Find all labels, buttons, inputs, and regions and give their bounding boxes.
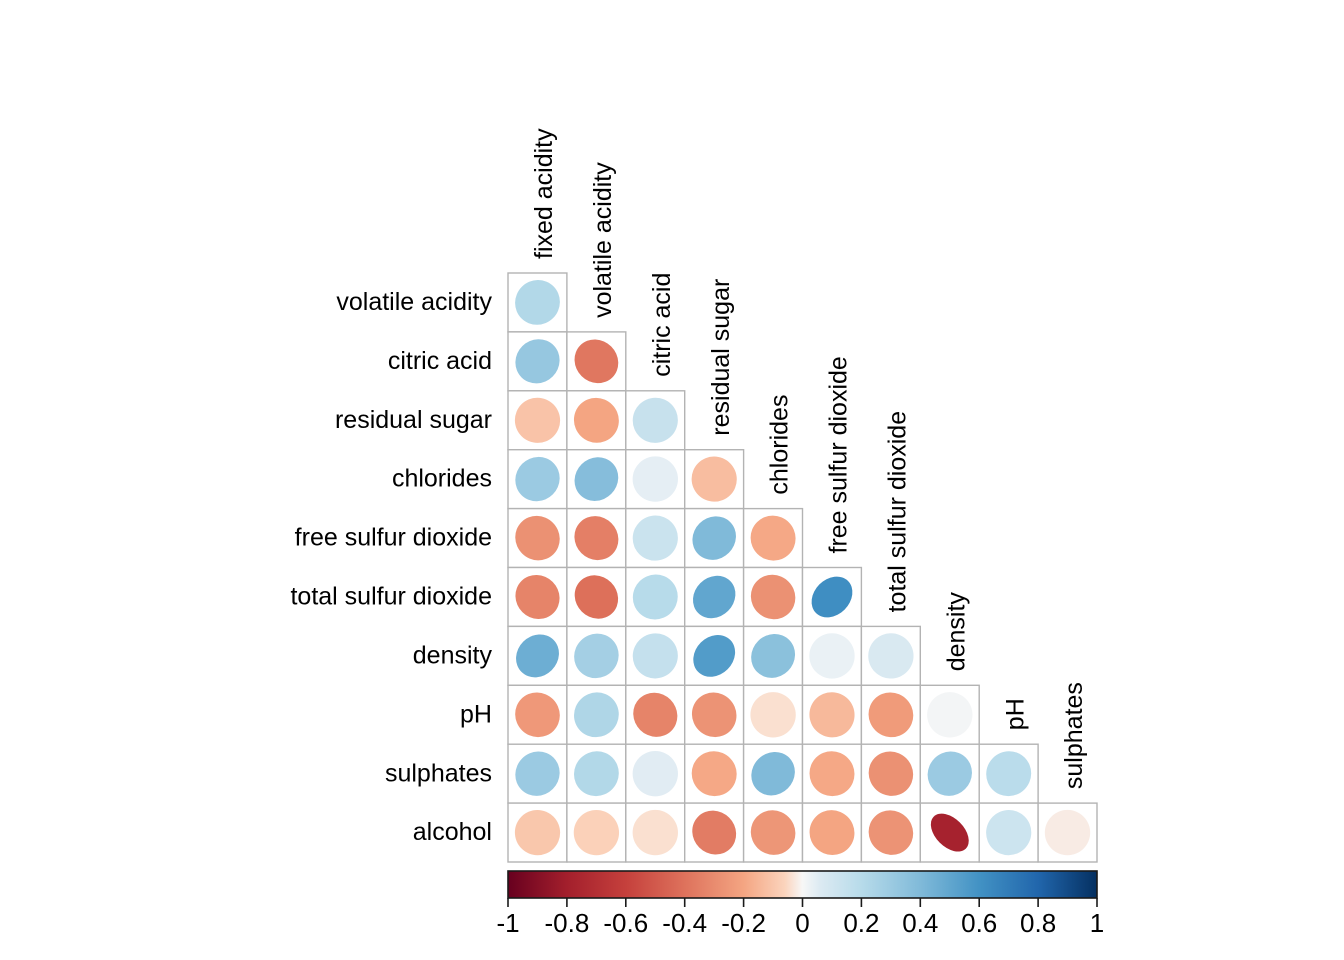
colorbar-tick-label: 0.8 — [1020, 908, 1056, 938]
column-label: volatile acidity — [589, 162, 617, 318]
correlation-matrix-figure: volatile aciditycitric acidresidual suga… — [0, 0, 1344, 960]
colorbar-tick-labels: -1-0.8-0.6-0.4-0.200.20.40.60.81 — [496, 908, 1104, 938]
colorbar-tick-label: 0 — [795, 908, 809, 938]
colorbar-tick-label: 1 — [1090, 908, 1104, 938]
colorbar-tick-label: -0.4 — [662, 908, 707, 938]
column-label: chlorides — [766, 395, 794, 495]
colorbar-tick-label: 0.6 — [961, 908, 997, 938]
row-label: citric acid — [388, 347, 492, 375]
row-label: residual sugar — [335, 406, 492, 434]
row-label: chlorides — [392, 465, 492, 493]
column-label: density — [942, 592, 970, 672]
colorbar-tick-label: 0.2 — [843, 908, 879, 938]
column-label: free sulfur dioxide — [825, 356, 853, 553]
row-label: pH — [460, 700, 492, 728]
colorbar-ticks — [508, 898, 1097, 907]
row-label: density — [413, 642, 493, 670]
colorbar-gradient — [508, 871, 1097, 898]
row-label: free sulfur dioxide — [295, 524, 492, 552]
colorbar-tick-label: -0.6 — [603, 908, 648, 938]
colorbar-tick-label: -1 — [496, 908, 519, 938]
colorbar-tick-label: -0.2 — [721, 908, 766, 938]
row-label-group: volatile aciditycitric acidresidual suga… — [290, 288, 492, 846]
column-label: total sulfur dioxide — [884, 411, 912, 613]
row-label: alcohol — [413, 818, 492, 846]
corrplot-svg: volatile aciditycitric acidresidual suga… — [0, 0, 1344, 960]
row-label: total sulfur dioxide — [290, 583, 492, 611]
column-label: sulphates — [1060, 682, 1088, 789]
colorbar: -1-0.8-0.6-0.4-0.200.20.40.60.81 — [496, 871, 1104, 938]
column-label: fixed acidity — [530, 128, 558, 259]
column-label: pH — [1001, 698, 1029, 730]
row-label: volatile acidity — [336, 288, 492, 316]
colorbar-tick-label: 0.4 — [902, 908, 938, 938]
row-label: sulphates — [385, 759, 492, 787]
colorbar-tick-label: -0.8 — [544, 908, 589, 938]
column-label: residual sugar — [707, 279, 735, 436]
column-label: citric acid — [648, 273, 676, 377]
matrix-cells — [506, 271, 1100, 865]
